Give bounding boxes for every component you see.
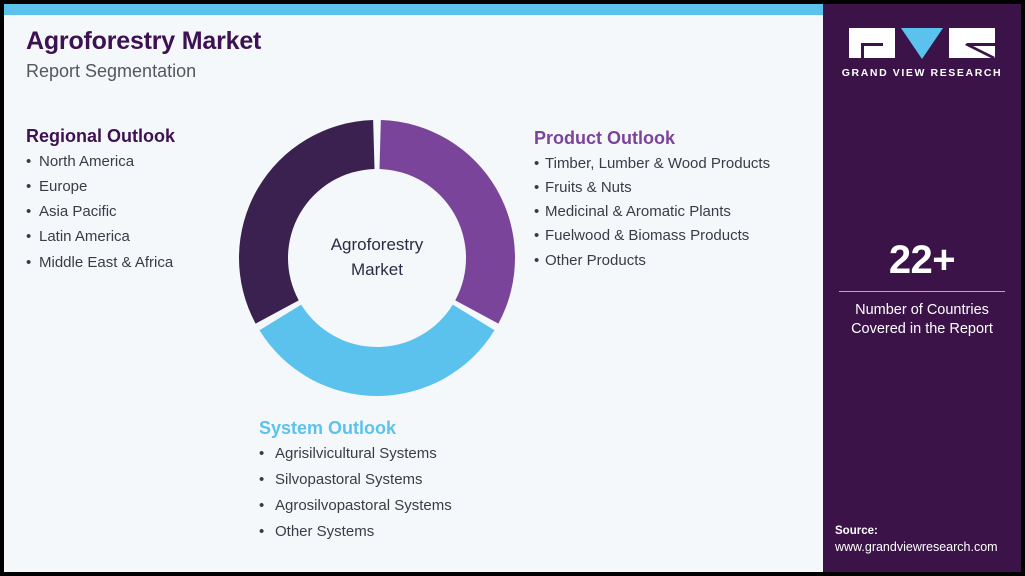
list-item: Latin America bbox=[26, 227, 256, 247]
regional-outlook-heading: Regional Outlook bbox=[26, 126, 256, 148]
source-block: Source: www.grandviewresearch.com bbox=[835, 524, 1021, 556]
list-item: Asia Pacific bbox=[26, 202, 256, 222]
stat-caption-line-2: Covered in the Report bbox=[823, 320, 1021, 339]
product-outlook-list: Timber, Lumber & Wood Products Fruits & … bbox=[534, 154, 819, 271]
page-subtitle: Report Segmentation bbox=[26, 60, 261, 83]
donut-chart-svg bbox=[236, 117, 518, 399]
system-outlook-list: Agrisilvicultural Systems Silvopastoral … bbox=[259, 444, 549, 543]
list-item: Agrisilvicultural Systems bbox=[259, 444, 549, 464]
stat-divider bbox=[839, 291, 1005, 292]
list-item: Middle East & Africa bbox=[26, 253, 256, 273]
infographic-canvas: Agroforestry Market Report Segmentation … bbox=[0, 0, 1025, 576]
source-label: Source: bbox=[835, 524, 1021, 540]
list-item: Medicinal & Aromatic Plants bbox=[534, 202, 819, 222]
system-outlook-group: System Outlook Agrisilvicultural Systems… bbox=[259, 418, 549, 549]
list-item: Timber, Lumber & Wood Products bbox=[534, 154, 819, 174]
page-title: Agroforestry Market bbox=[26, 28, 261, 56]
logo-wordmark: GRAND VIEW RESEARCH bbox=[823, 67, 1021, 79]
stat-caption-line-1: Number of Countries bbox=[823, 301, 1021, 320]
stat-caption: Number of Countries Covered in the Repor… bbox=[823, 301, 1021, 339]
donut-segment-system bbox=[259, 305, 494, 396]
donut-chart: Agroforestry Market bbox=[236, 117, 518, 399]
gvr-logo-icon bbox=[849, 26, 995, 60]
title-block: Agroforestry Market Report Segmentation bbox=[26, 28, 261, 82]
stat-value: 22+ bbox=[823, 240, 1021, 280]
list-item: North America bbox=[26, 152, 256, 172]
donut-segment-regional bbox=[239, 120, 375, 324]
source-url[interactable]: www.grandviewresearch.com bbox=[835, 539, 1021, 556]
list-item: Other Products bbox=[534, 251, 819, 271]
donut-segment-product bbox=[379, 120, 515, 324]
list-item: Fuelwood & Biomass Products bbox=[534, 226, 819, 246]
regional-outlook-list: North America Europe Asia Pacific Latin … bbox=[26, 152, 256, 273]
list-item: Fruits & Nuts bbox=[534, 178, 819, 198]
product-outlook-heading: Product Outlook bbox=[534, 128, 819, 150]
list-item: Silvopastoral Systems bbox=[259, 470, 549, 490]
stat-block: 22+ Number of Countries Covered in the R… bbox=[823, 240, 1021, 339]
top-accent-bar bbox=[4, 4, 823, 15]
list-item: Europe bbox=[26, 177, 256, 197]
list-item: Other Systems bbox=[259, 522, 549, 542]
regional-outlook-group: Regional Outlook North America Europe As… bbox=[26, 126, 256, 278]
logo-block: GRAND VIEW RESEARCH bbox=[823, 26, 1021, 79]
system-outlook-heading: System Outlook bbox=[259, 418, 549, 440]
sidebar-panel: GRAND VIEW RESEARCH 22+ Number of Countr… bbox=[823, 4, 1021, 572]
list-item: Agrosilvopastoral Systems bbox=[259, 496, 549, 516]
main-panel: Agroforestry Market Report Segmentation … bbox=[4, 4, 823, 572]
product-outlook-group: Product Outlook Timber, Lumber & Wood Pr… bbox=[534, 128, 819, 275]
